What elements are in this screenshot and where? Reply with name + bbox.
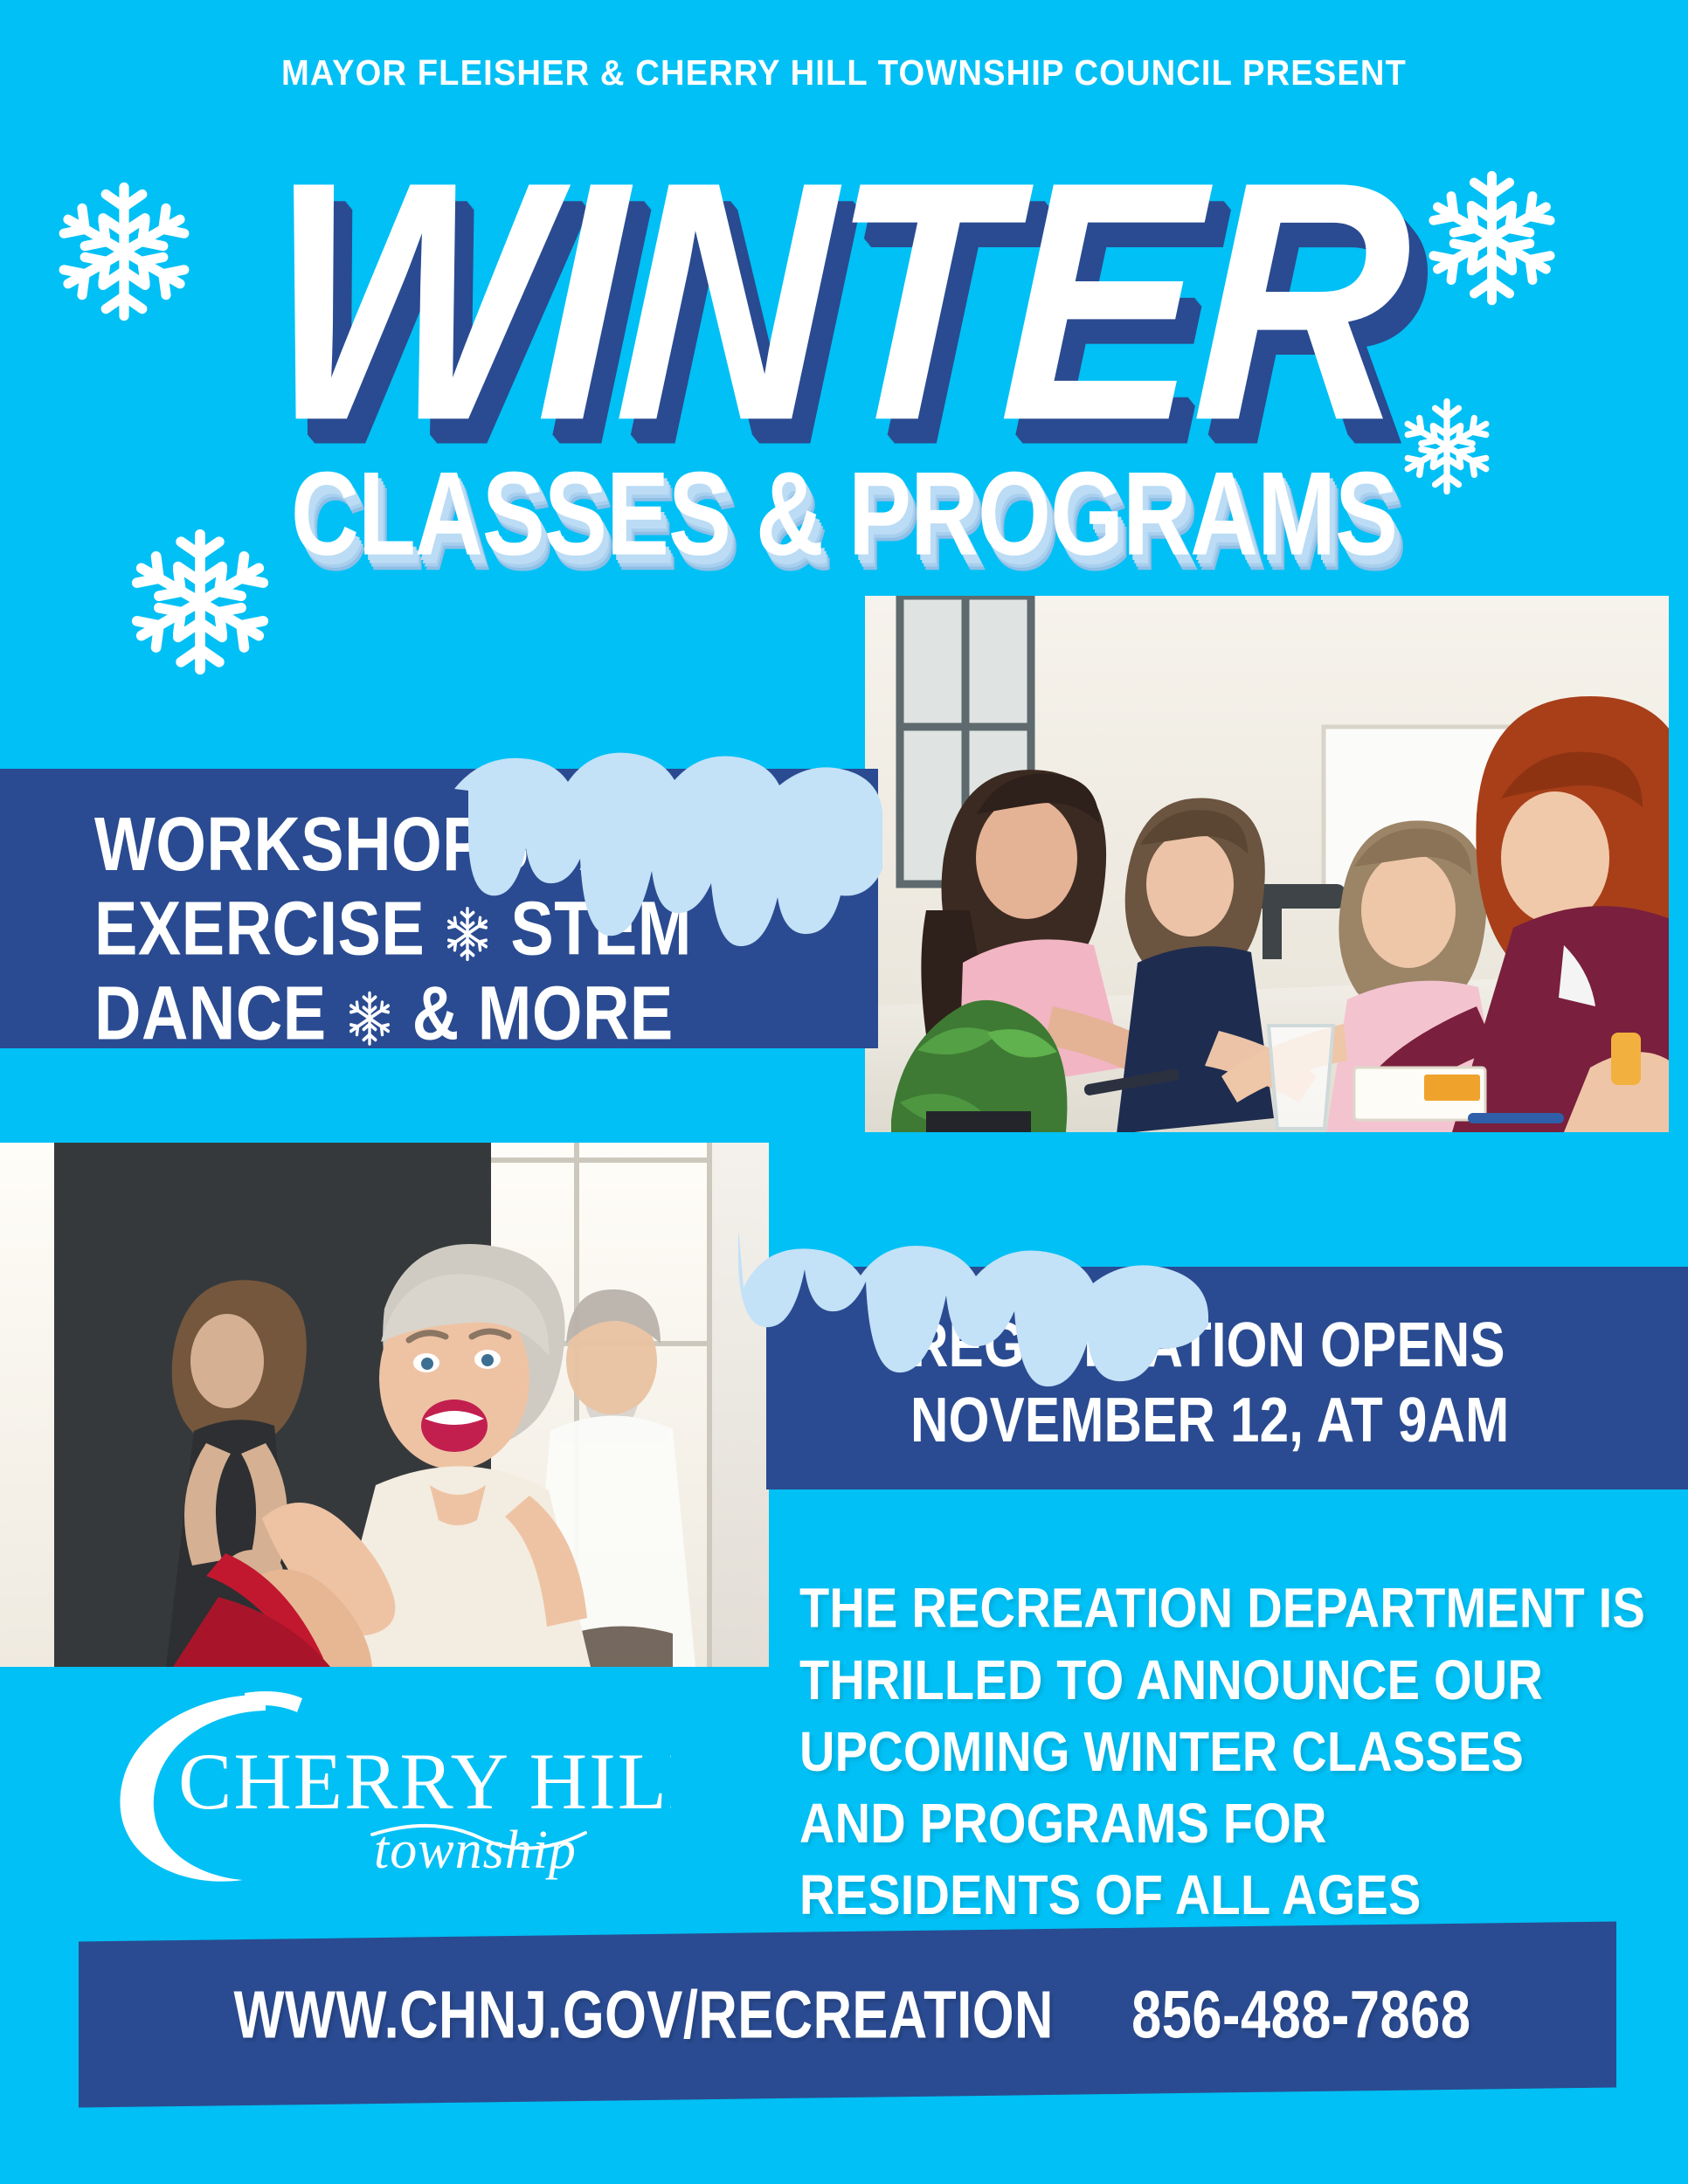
body-copy-line-2: THRILLED TO ANNOUNCE OUR [799, 1644, 1682, 1716]
program-dance: DANCE [94, 970, 327, 1055]
body-copy-line-3: UPCOMING WINTER CLASSES [799, 1716, 1682, 1787]
cherry-hill-township-logo: CHERRY HILL township CHERRY HILL townshi… [94, 1686, 671, 1891]
snowflake-icon-mid-left [127, 529, 273, 675]
body-copy: THE RECREATION DEPARTMENT IS THRILLED TO… [799, 1572, 1682, 1931]
footer-bar: WWW.CHNJ.GOV/RECREATION 856-488-7868 [79, 1921, 1616, 2107]
photo-classroom [865, 596, 1669, 1132]
subtitle-block: CLASSES & PROGRAMS [0, 454, 1688, 549]
snowflake-icon-sep-3 [345, 990, 394, 1047]
snow-drip-registration [738, 1234, 1332, 1531]
svg-text:township: township [374, 1821, 577, 1880]
program-exercise: EXERCISE [94, 886, 425, 971]
footer-website-link[interactable]: WWW.CHNJ.GOV/RECREATION [234, 1976, 1054, 2054]
photo-dance [0, 1143, 769, 1667]
svg-text:CHERRY HILL: CHERRY HILL [178, 1737, 671, 1826]
body-copy-line-1: THE RECREATION DEPARTMENT IS [799, 1572, 1682, 1644]
footer-phone-number[interactable]: 856-488-7868 [1132, 1976, 1471, 2054]
title-block: WINTER [0, 131, 1688, 419]
page-subtitle: CLASSES & PROGRAMS [291, 454, 1397, 573]
page-title: WINTER [259, 131, 1414, 471]
presenter-line: MAYOR FLEISHER & CHERRY HILL TOWNSHIP CO… [59, 52, 1629, 93]
body-copy-line-5: RESIDENTS OF ALL AGES [799, 1859, 1682, 1931]
snow-drip-programs [430, 738, 902, 1035]
winter-programs-flyer: MAYOR FLEISHER & CHERRY HILL TOWNSHIP CO… [0, 0, 1688, 2184]
body-copy-line-4: AND PROGRAMS FOR [799, 1787, 1682, 1859]
